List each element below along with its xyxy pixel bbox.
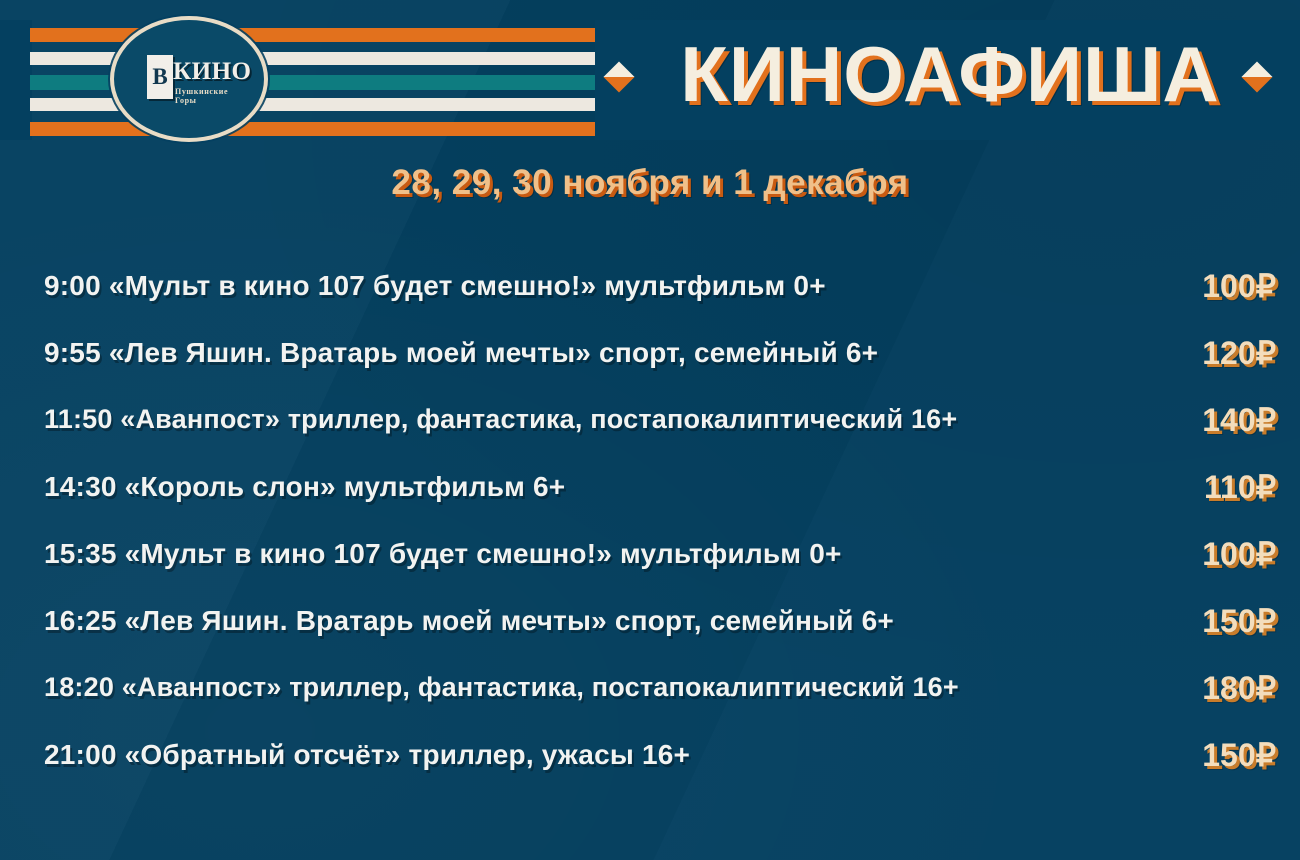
showtime-price: 140₽ — [1202, 401, 1276, 439]
showtime-description: 16:25 «Лев Яшин. Вратарь моей мечты» спо… — [44, 605, 894, 637]
showtime-price: 100₽ — [1202, 267, 1276, 305]
stripe-mask-left — [0, 20, 32, 140]
showtime-description: 18:20 «Аванпост» триллер, фантастика, по… — [44, 672, 959, 703]
showtimes-list: 9:00 «Мульт в кино 107 будет смешно!» му… — [44, 252, 1276, 788]
showtime-description: 9:55 «Лев Яшин. Вратарь моей мечты» спор… — [44, 337, 878, 369]
showtime-row[interactable]: 9:00 «Мульт в кино 107 будет смешно!» му… — [44, 252, 1276, 319]
showtime-price: 110₽ — [1204, 468, 1276, 506]
poster-header: В КИНО Пушкинские Горы КИНОАФИША — [0, 0, 1300, 150]
showtime-row[interactable]: 14:30 «Король слон» мультфильм 6+ 110₽ — [44, 453, 1276, 520]
showtime-row[interactable]: 16:25 «Лев Яшин. Вратарь моей мечты» спо… — [44, 587, 1276, 654]
showtime-row[interactable]: 11:50 «Аванпост» триллер, фантастика, по… — [44, 386, 1276, 453]
showtime-price: 180₽ — [1202, 669, 1276, 707]
showtime-price: 120₽ — [1202, 334, 1276, 372]
showtime-row[interactable]: 18:20 «Аванпост» триллер, фантастика, по… — [44, 654, 1276, 721]
showtime-price: 150₽ — [1202, 602, 1276, 640]
showtime-description: 9:00 «Мульт в кино 107 будет смешно!» му… — [44, 270, 826, 302]
showtime-description: 15:35 «Мульт в кино 107 будет смешно!» м… — [44, 538, 842, 570]
showtime-price: 150₽ — [1202, 736, 1276, 774]
showtime-row[interactable]: 15:35 «Мульт в кино 107 будет смешно!» м… — [44, 520, 1276, 587]
cinema-logo: В КИНО Пушкинские Горы — [110, 16, 268, 142]
logo-mark-letter: В — [147, 55, 173, 99]
showtime-row[interactable]: 21:00 «Обратный отсчёт» триллер, ужасы 1… — [44, 721, 1276, 788]
showtime-row[interactable]: 9:55 «Лев Яшин. Вратарь моей мечты» спор… — [44, 319, 1276, 386]
logo-subtitle-text: Пушкинские Горы — [175, 87, 249, 105]
showtime-description: 21:00 «Обратный отсчёт» триллер, ужасы 1… — [44, 739, 690, 771]
date-range-label: 28, 29, 30 ноября и 1 декабря — [0, 163, 1300, 203]
logo-brand-text: КИНО — [173, 58, 251, 86]
showtime-description: 14:30 «Король слон» мультфильм 6+ — [44, 471, 565, 503]
logo-inner: В КИНО Пушкинские Горы — [129, 49, 249, 109]
page-title: КИНОАФИША — [640, 24, 1260, 124]
showtime-price: 100₽ — [1202, 535, 1276, 573]
showtime-description: 11:50 «Аванпост» триллер, фантастика, по… — [44, 404, 957, 435]
